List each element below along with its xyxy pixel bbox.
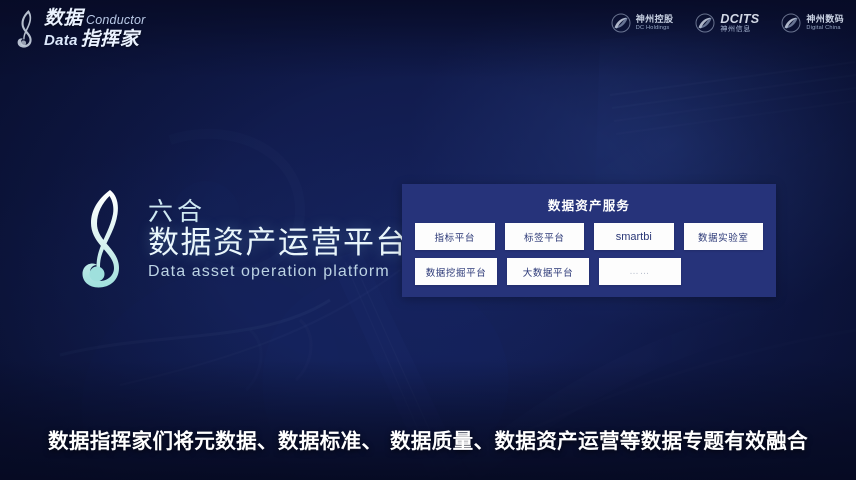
chip-data-lab[interactable]: 数据实验室 <box>684 223 764 250</box>
treble-clef-icon <box>14 8 40 50</box>
chip-more-ellipsis[interactable]: …… <box>599 258 681 285</box>
slide-canvas: 数据 Conductor Data 指挥家 神州控股 DC Holdings <box>0 0 856 480</box>
brand-en-bottom: Data <box>44 33 78 48</box>
partner-cn-label: 神州信息 <box>720 26 759 34</box>
hero-line-1: 六合 <box>148 199 408 224</box>
hero-text: 六合 数据资产运营平台 Data asset operation platfor… <box>148 199 408 280</box>
swoosh-icon <box>781 13 801 33</box>
chip-data-mining-platform[interactable]: 数据挖掘平台 <box>415 258 497 285</box>
brand-cn-top: 数据 <box>44 9 83 28</box>
brand-logo: 数据 Conductor Data 指挥家 <box>14 8 146 50</box>
partner-logo-dc-holdings: 神州控股 DC Holdings <box>611 13 674 33</box>
partner-latin-label: DCITS <box>720 12 759 26</box>
swoosh-icon <box>695 13 715 33</box>
treble-clef-icon <box>74 186 136 292</box>
panel-chip-row: 数据挖掘平台 大数据平台 …… <box>415 258 763 285</box>
panel-chip-row: 指标平台 标签平台 smartbi 数据实验室 <box>415 223 763 250</box>
bottom-fade-overlay <box>0 360 856 480</box>
hero-title-block: 六合 数据资产运营平台 Data asset operation platfor… <box>74 186 408 292</box>
partner-cn-label: 神州控股 <box>636 15 674 25</box>
chip-metric-platform[interactable]: 指标平台 <box>415 223 495 250</box>
brand-cn-bottom: 指挥家 <box>81 30 140 49</box>
swoosh-icon <box>611 13 631 33</box>
chip-smartbi[interactable]: smartbi <box>594 223 674 250</box>
hero-line-3: Data asset operation platform <box>148 264 408 280</box>
partner-logo-dcits: DCITS 神州信息 <box>695 12 759 34</box>
chip-big-data-platform[interactable]: 大数据平台 <box>507 258 589 285</box>
data-asset-service-panel: 数据资产服务 指标平台 标签平台 smartbi 数据实验室 数据挖掘平台 大数… <box>402 184 776 297</box>
slide-caption: 数据指挥家们将元数据、数据标准、 数据质量、数据资产运营等数据专题有效融合 <box>0 424 856 454</box>
chip-tag-platform[interactable]: 标签平台 <box>505 223 585 250</box>
brand-en-top: Conductor <box>86 14 145 27</box>
partner-en-label: Digital China <box>806 25 844 31</box>
partner-en-label: DC Holdings <box>636 25 674 31</box>
panel-chip-grid: 指标平台 标签平台 smartbi 数据实验室 数据挖掘平台 大数据平台 …… <box>402 214 776 285</box>
partner-logo-digital-china: 神州数码 Digital China <box>781 13 844 33</box>
brand-wordmark: 数据 Conductor Data 指挥家 <box>44 9 146 49</box>
hero-line-2: 数据资产运营平台 <box>148 228 408 259</box>
partner-cn-label: 神州数码 <box>806 15 844 25</box>
panel-title: 数据资产服务 <box>402 184 776 214</box>
partner-logo-group: 神州控股 DC Holdings DCITS 神州信息 神州数码 <box>611 12 844 34</box>
